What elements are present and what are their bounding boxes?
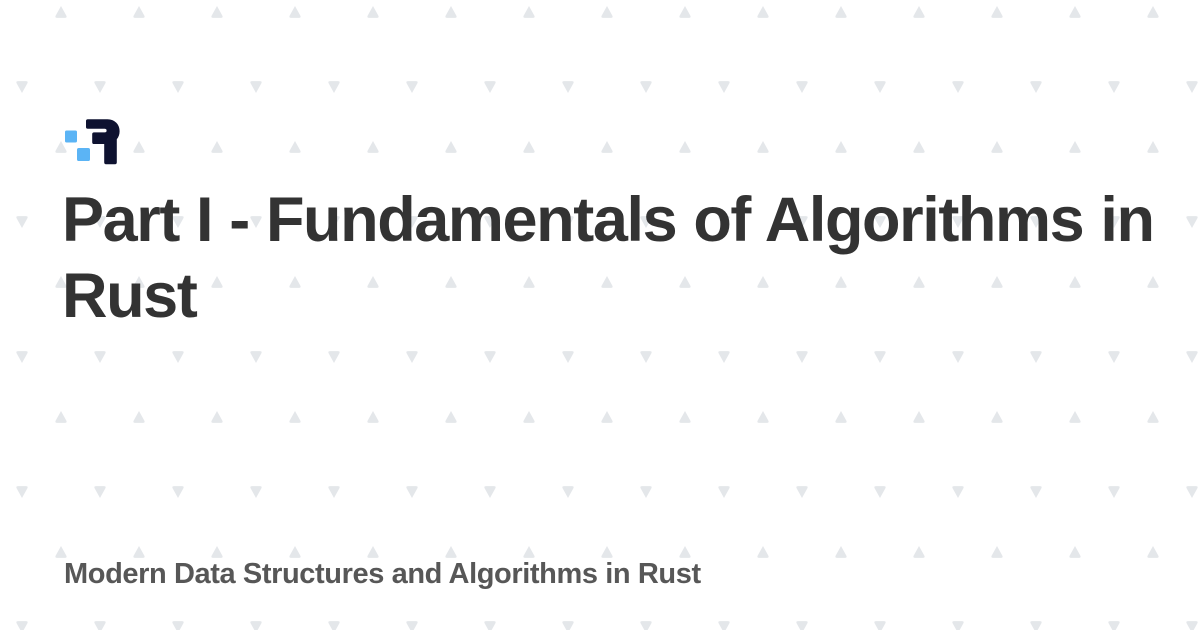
page-title: Part I - Fundamentals of Algorithms in R… (62, 182, 1182, 334)
logo-square-upper (65, 131, 77, 143)
page-subtitle: Modern Data Structures and Algorithms in… (64, 554, 701, 594)
og-card: Part I - Fundamentals of Algorithms in R… (0, 0, 1200, 630)
site-logo[interactable] (64, 118, 128, 166)
card-content: Part I - Fundamentals of Algorithms in R… (0, 0, 1200, 630)
logo-mark-dark (86, 119, 120, 164)
logo-square-lower (77, 148, 90, 161)
